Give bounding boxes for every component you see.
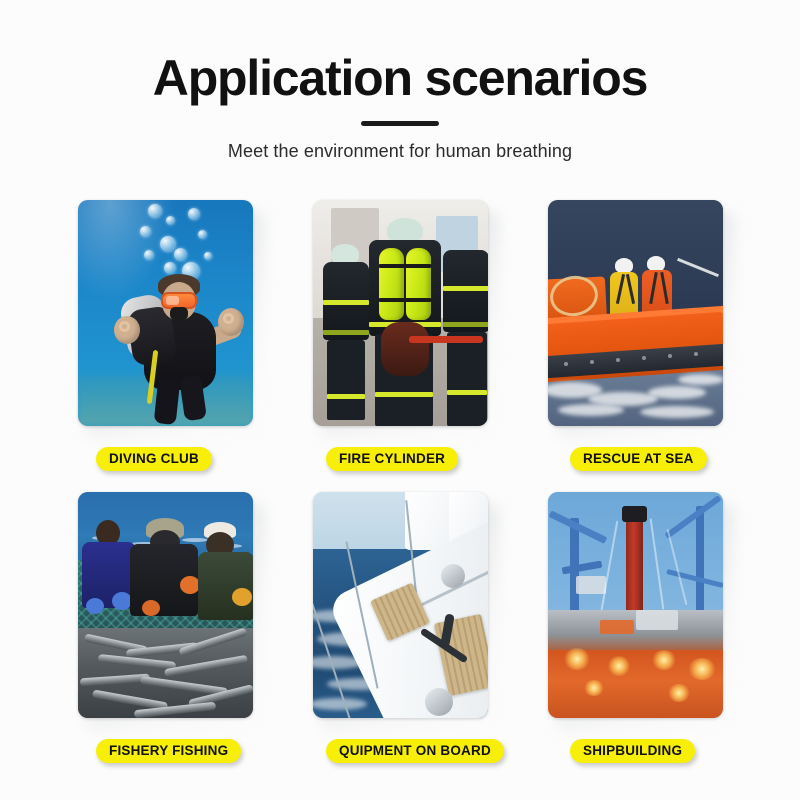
card-label-badge[interactable]: SHIPBUILDING <box>570 739 695 763</box>
page-title: Application scenarios <box>0 52 800 105</box>
scenario-card-fishery-fishing[interactable]: FISHERY FISHING <box>78 492 253 763</box>
scenario-card-quipment-on-board[interactable]: QUIPMENT ON BOARD <box>313 492 488 763</box>
scenario-card-fire-cylinder[interactable]: FIRE CYLINDER <box>313 200 488 471</box>
scenario-row-2: FISHERY FISHING <box>78 492 723 784</box>
card-frame[interactable] <box>78 200 253 426</box>
card-frame[interactable] <box>313 492 488 718</box>
card-label-badge[interactable]: QUIPMENT ON BOARD <box>326 739 504 763</box>
photo-rescue-at-sea <box>548 200 723 426</box>
card-label-badge[interactable]: DIVING CLUB <box>96 447 212 471</box>
photo-quipment-on-board <box>313 492 488 718</box>
page-header: Application scenarios Meet the environme… <box>0 0 800 162</box>
photo-fire-cylinder <box>313 200 488 426</box>
scenario-card-shipbuilding[interactable]: SHIPBUILDING <box>548 492 723 763</box>
title-divider <box>361 121 439 126</box>
card-frame[interactable] <box>78 492 253 718</box>
card-frame[interactable] <box>313 200 488 426</box>
photo-diving-club <box>78 200 253 426</box>
page-subtitle: Meet the environment for human breathing <box>0 141 800 162</box>
card-label-badge[interactable]: RESCUE AT SEA <box>570 447 707 471</box>
scenario-card-diving-club[interactable]: DIVING CLUB <box>78 200 253 471</box>
scenario-grid: DIVING CLUB <box>78 200 723 784</box>
scenario-card-rescue-at-sea[interactable]: RESCUE AT SEA <box>548 200 723 471</box>
photo-shipbuilding <box>548 492 723 718</box>
card-frame[interactable] <box>548 492 723 718</box>
card-frame[interactable] <box>548 200 723 426</box>
card-label-badge[interactable]: FIRE CYLINDER <box>326 447 458 471</box>
card-label-badge[interactable]: FISHERY FISHING <box>96 739 241 763</box>
scenario-row-1: DIVING CLUB <box>78 200 723 492</box>
photo-fishery-fishing <box>78 492 253 718</box>
